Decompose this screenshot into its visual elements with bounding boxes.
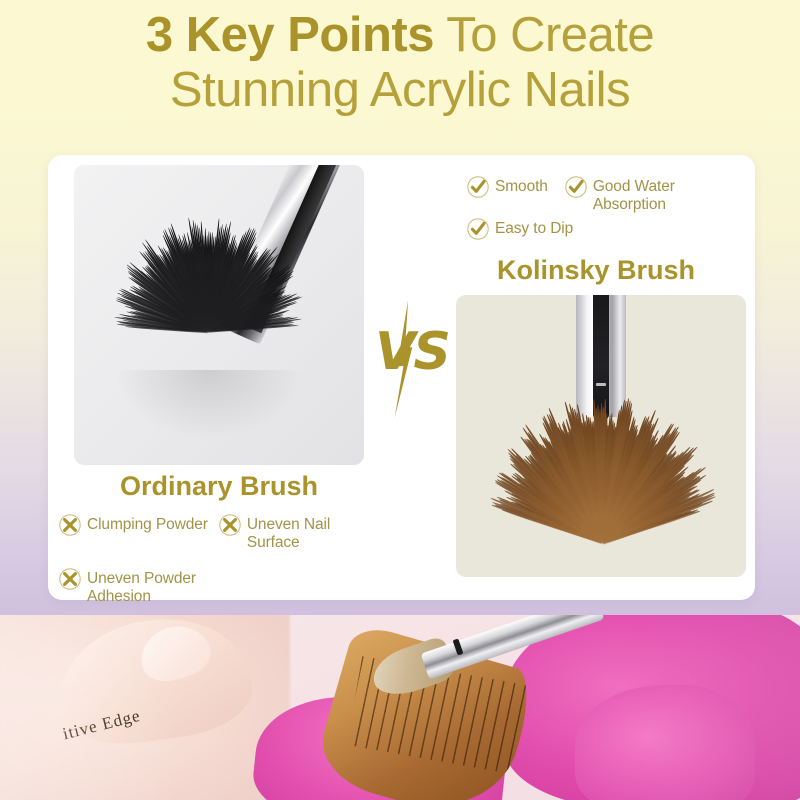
- title-line-2-text: Stunning Acrylic Nails: [170, 63, 630, 117]
- pro-item-2: Easy to Dip: [466, 217, 573, 246]
- kolinsky-brush-pros-list: Smooth Good Water Absorption: [466, 175, 746, 253]
- vs-label: VS: [366, 322, 458, 382]
- check-circle-icon: [564, 175, 588, 204]
- cross-circle-icon: [58, 513, 82, 542]
- pro-item-1: Good Water Absorption: [564, 175, 693, 214]
- ordinary-brush-image: [74, 165, 364, 465]
- kolinsky-brush-image: [456, 295, 746, 577]
- ordinary-brush-shadow: [114, 370, 304, 440]
- ordinary-brush-title: Ordinary Brush: [74, 471, 364, 502]
- pro-label-2: Easy to Dip: [495, 217, 573, 238]
- ordinary-brush-cons-list: Clumping Powder Uneven Nail Surface: [58, 513, 388, 615]
- photo-vignette: [0, 615, 800, 800]
- con-label-0: Clumping Powder: [87, 513, 208, 534]
- check-circle-icon: [466, 175, 490, 204]
- cross-circle-icon: [218, 513, 242, 542]
- page-title: 3 Key Points To Create Stunning Acrylic …: [0, 8, 800, 118]
- title-highlight: 3 Key Points: [146, 8, 434, 62]
- con-label-2: Uneven Powder Adhesion: [87, 567, 217, 606]
- cross-circle-icon: [58, 567, 82, 596]
- ordinary-brush-column: Ordinary Brush Clumping Powder: [74, 165, 384, 585]
- kolinsky-brush-bristles: [456, 411, 746, 577]
- pro-label-1: Good Water Absorption: [593, 175, 693, 214]
- check-circle-icon: [466, 217, 490, 246]
- con-label-1: Uneven Nail Surface: [247, 513, 343, 552]
- title-line-1: 3 Key Points To Create: [0, 8, 800, 63]
- title-line-2: Stunning Acrylic Nails: [0, 63, 800, 118]
- con-item-0: Clumping Powder: [58, 513, 208, 542]
- pro-label-0: Smooth: [495, 175, 548, 196]
- nail-application-photo: itive Edge: [0, 615, 800, 800]
- kolinsky-brush-title: Kolinsky Brush: [446, 255, 746, 286]
- con-item-2: Uneven Powder Adhesion: [58, 567, 217, 606]
- vs-badge: VS: [366, 300, 458, 420]
- comparison-card: Ordinary Brush Clumping Powder: [48, 155, 755, 600]
- con-item-1: Uneven Nail Surface: [218, 513, 343, 552]
- pro-item-0: Smooth: [466, 175, 548, 214]
- kolinsky-brush-column: Smooth Good Water Absorption: [446, 163, 746, 583]
- title-rest: To Create: [434, 8, 654, 62]
